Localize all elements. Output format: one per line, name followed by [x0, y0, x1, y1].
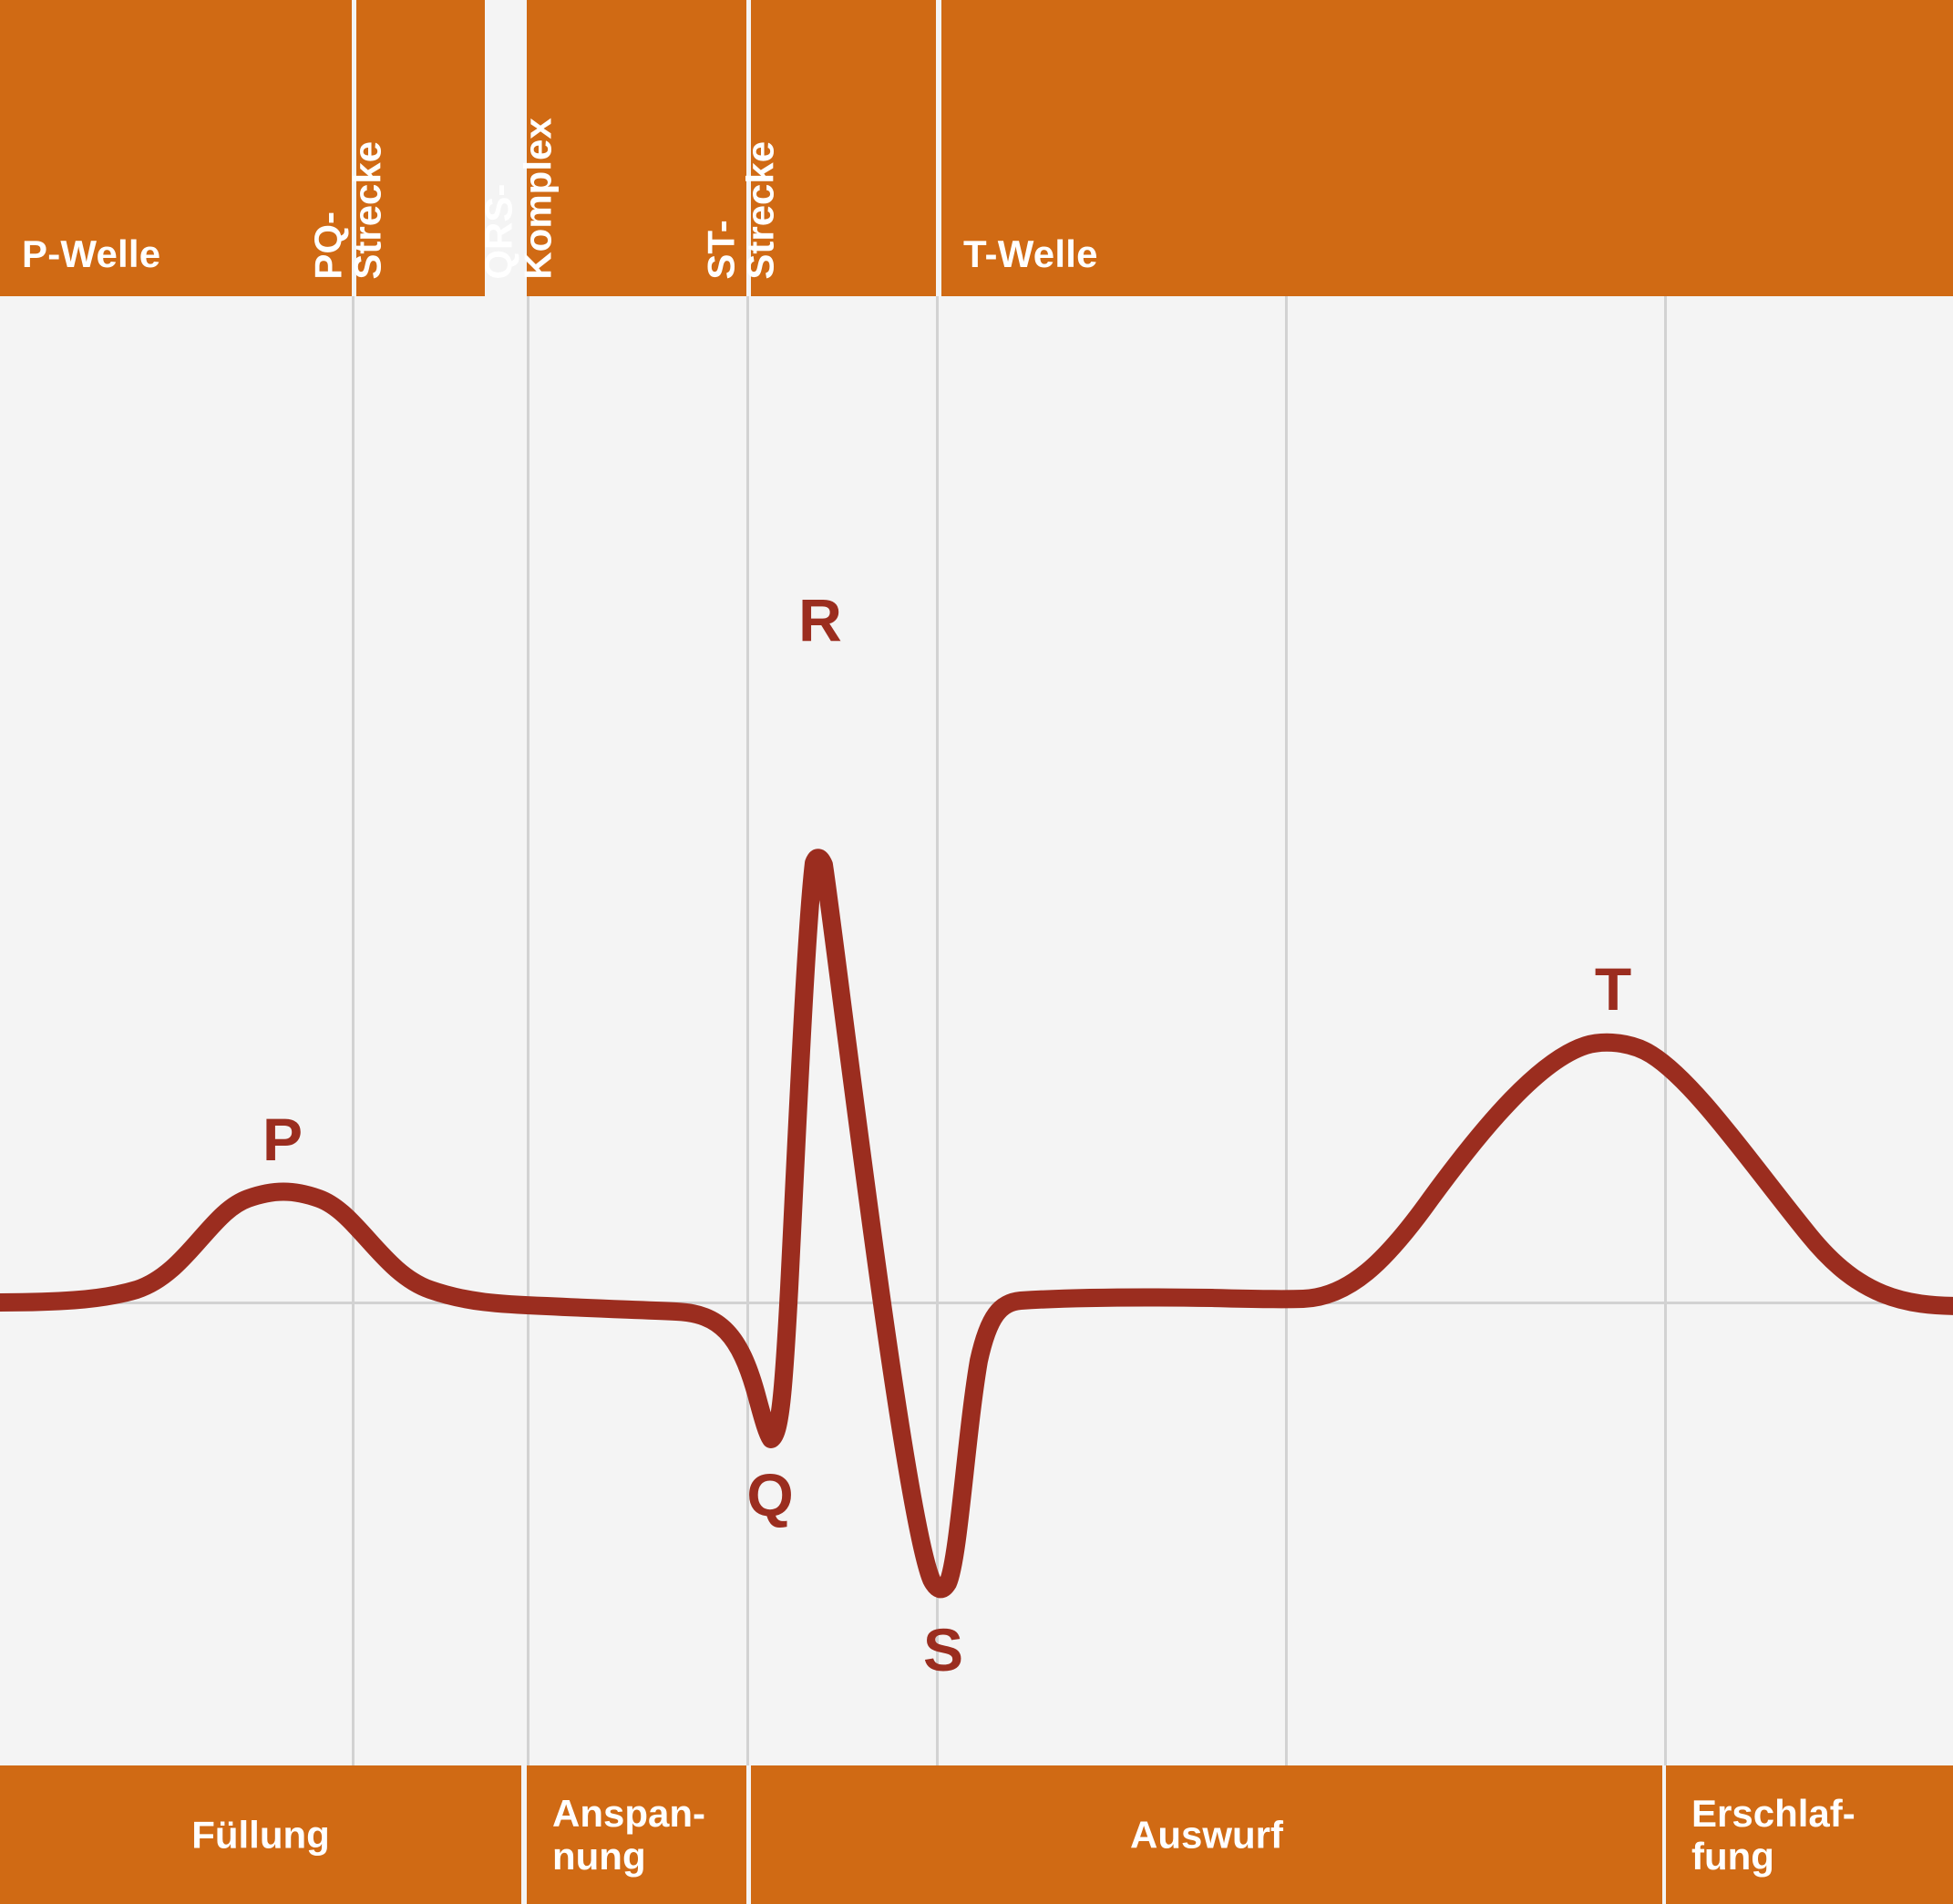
- wave-label-p: P: [262, 1109, 303, 1169]
- wave-label-t: T: [1595, 959, 1631, 1019]
- bottom-band-segment-auswurf: Auswurf: [751, 1765, 1662, 1904]
- top-band-label-st-strecke: ST- Strecke: [702, 141, 780, 280]
- top-band-label-pq-strecke: PQ- Strecke: [309, 141, 387, 280]
- top-band-segment-p-welle: P-Welle: [0, 0, 352, 296]
- top-band-segment-t-welle: T-Welle: [941, 0, 1953, 296]
- bottom-band-label-auswurf: Auswurf: [751, 1813, 1662, 1856]
- bottom-band-segment-fuellung: Füllung: [0, 1765, 521, 1904]
- top-band-segment-pq-strecke: PQ- Strecke: [356, 0, 485, 296]
- ecg-waveform: [0, 296, 1953, 1765]
- bottom-band-label-erschlaffung: Erschlaf- fung: [1691, 1792, 1946, 1878]
- wave-label-r: R: [798, 590, 842, 650]
- top-band-label-t-welle: T-Welle: [963, 232, 1098, 276]
- ecg-diagram: P-Welle PQ- Strecke QRS- Komplex ST- Str…: [0, 0, 1953, 1904]
- top-band-label-p-welle: P-Welle: [22, 232, 160, 276]
- top-band-segment-st-strecke: ST- Strecke: [751, 0, 936, 296]
- wave-label-s: S: [923, 1620, 963, 1680]
- bottom-band-segment-erschlaffung: Erschlaf- fung: [1666, 1765, 1953, 1904]
- bottom-band-label-anspannung: Anspan- nung: [552, 1792, 739, 1878]
- wave-label-q: Q: [746, 1465, 793, 1525]
- top-band-label-qrs-komplex: QRS- Komplex: [479, 118, 558, 280]
- bottom-band-label-fuellung: Füllung: [0, 1813, 521, 1856]
- bottom-band-segment-anspannung: Anspan- nung: [527, 1765, 746, 1904]
- plot-area: P R Q S T: [0, 296, 1953, 1765]
